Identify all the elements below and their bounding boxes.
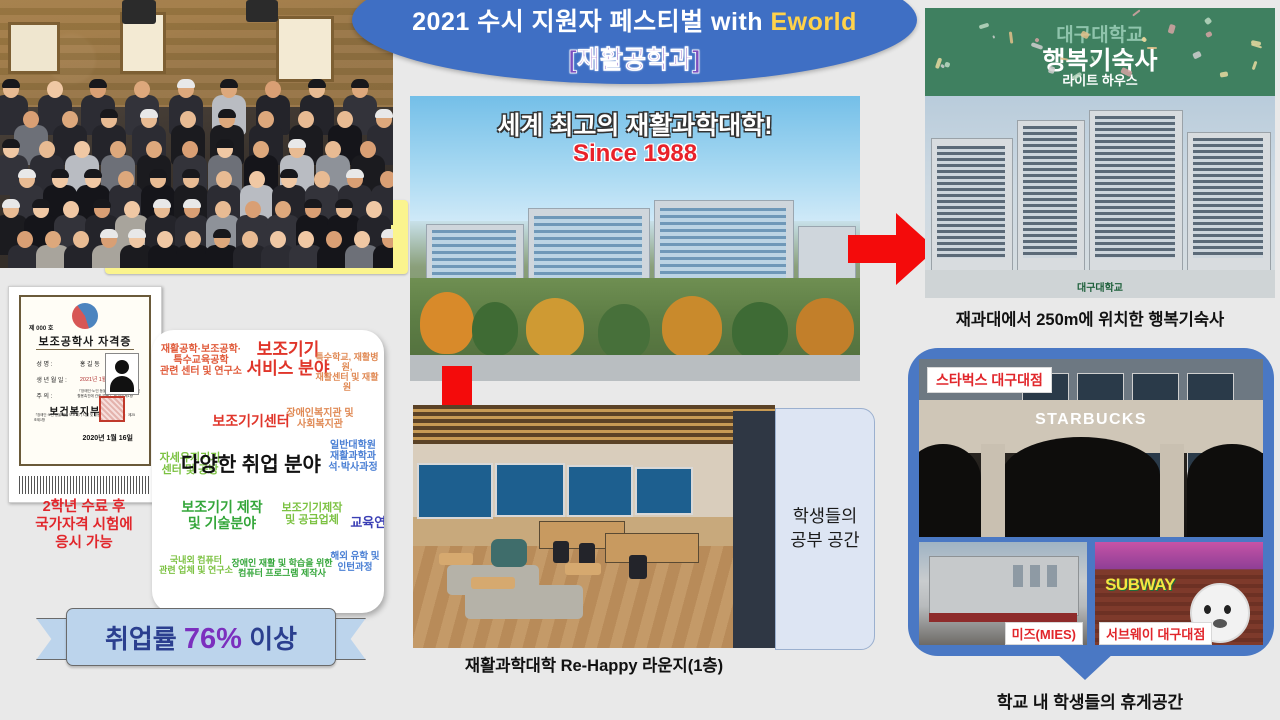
person-head bbox=[62, 111, 78, 128]
word-cloud-item: 재활공학·보조공학· 특수교육공학 관련 센터 및 연구소 bbox=[158, 344, 244, 378]
dorm-tower-1-windows bbox=[937, 146, 1005, 258]
cap-icon bbox=[304, 199, 322, 208]
cert-barcode bbox=[19, 476, 151, 494]
person-head bbox=[47, 81, 63, 98]
person-head bbox=[23, 111, 39, 128]
campus-subline: Since 1988 bbox=[410, 140, 860, 168]
lounge-side-table-1 bbox=[439, 553, 473, 565]
tree-autumn-3 bbox=[662, 296, 722, 358]
person-head bbox=[298, 231, 314, 248]
cap-icon bbox=[140, 109, 158, 118]
person-head bbox=[298, 111, 314, 128]
person-head bbox=[326, 231, 342, 248]
cert-name-value: 홍 길 동 bbox=[80, 359, 100, 368]
mies-photo: 미즈(MIES) bbox=[919, 542, 1087, 645]
person-head bbox=[118, 171, 134, 188]
employment-rate-ribbon: 취업률 76% 이상 bbox=[36, 608, 366, 666]
person-head bbox=[245, 201, 261, 218]
certificate-caption: 2학년 수료 후 국가자격 시험에 응시 가능 bbox=[0, 498, 168, 552]
lounge-ceiling bbox=[413, 405, 775, 444]
cap-icon bbox=[18, 169, 36, 178]
campus-photo: 세계 최고의 재활과학대학! Since 1988 bbox=[410, 96, 860, 381]
cap-icon bbox=[32, 199, 50, 208]
slide-canvas: /* crowd drawn by JS below */ “대구대 재활공학과… bbox=[0, 0, 1280, 720]
red-arrow-right-icon bbox=[848, 213, 936, 285]
official-seal-icon bbox=[99, 396, 125, 422]
person-head bbox=[39, 141, 55, 158]
subway-tag: 서브웨이 대구대점 bbox=[1099, 622, 1212, 645]
cert-doc-no: 제 000 호 bbox=[29, 323, 53, 332]
amenities-card-pointer bbox=[1055, 652, 1115, 680]
lounge-pillar bbox=[733, 411, 775, 648]
word-cloud-item: 일반대학원 재활과학과 석·박사과정 bbox=[320, 440, 384, 474]
title-line-2: [재활공학과] bbox=[569, 40, 701, 76]
certificate-caption-line-3: 응시 가능 bbox=[0, 534, 168, 552]
cap-icon bbox=[153, 199, 171, 208]
person-head bbox=[337, 111, 353, 128]
cap-icon bbox=[381, 229, 393, 238]
dormitory-logo: 대구대학교 bbox=[925, 279, 1275, 294]
mies-window-2 bbox=[1030, 565, 1040, 588]
cap-icon bbox=[218, 109, 236, 118]
employment-percent: 76% bbox=[184, 623, 242, 655]
word-cloud-item: 특수학교, 재활병원, 재활센터 및 재활원 bbox=[312, 352, 382, 392]
cap-icon bbox=[93, 199, 111, 208]
dorm-tower-3-windows bbox=[1095, 116, 1175, 258]
certificate-caption-line-2: 국가자격 시험에 bbox=[0, 516, 168, 534]
lounge-window-2 bbox=[495, 463, 565, 517]
person-head bbox=[366, 201, 382, 218]
cert-note-label: 주 의 : bbox=[36, 391, 52, 400]
person-head bbox=[124, 201, 140, 218]
cap-icon bbox=[149, 169, 167, 178]
study-space-line-1: 학생들의 bbox=[793, 505, 857, 529]
employment-rate-text: 취업률 76% 이상 bbox=[105, 619, 297, 656]
confetti-icon bbox=[1132, 10, 1140, 17]
starbucks-arch-3 bbox=[1187, 444, 1263, 537]
group-photo: /* crowd drawn by JS below */ bbox=[0, 0, 393, 268]
title-line-1: 2021 수시 지원자 페스티벌 with Eworld bbox=[412, 2, 857, 38]
dormitory-building-image: 대구대학교 bbox=[925, 96, 1275, 298]
government-emblem-icon bbox=[72, 303, 98, 329]
starbucks-arch-1 bbox=[919, 444, 981, 537]
lounge-chair-2 bbox=[579, 543, 595, 565]
dorm-tower-2-windows bbox=[1023, 126, 1077, 258]
person-head bbox=[182, 141, 198, 158]
word-cloud-item: 보조기기 제작 및 기술분야 bbox=[168, 500, 276, 531]
cap-icon bbox=[100, 109, 118, 118]
subway-signage: SUBWAY bbox=[1105, 575, 1175, 595]
employment-suffix: 이상 bbox=[242, 624, 297, 654]
cap-icon bbox=[375, 109, 393, 118]
slide-title-banner: 2021 수시 지원자 페스티벌 with Eworld [재활공학과] bbox=[352, 0, 917, 84]
person-head bbox=[354, 231, 370, 248]
person-head bbox=[253, 141, 269, 158]
person-head bbox=[242, 231, 258, 248]
word-cloud-item: 장애인 재활 및 학습을 위한 컴퓨터 프로그램 제작사 bbox=[230, 558, 334, 578]
lounge-window-3 bbox=[567, 465, 633, 517]
cap-icon bbox=[346, 169, 364, 178]
cap-icon bbox=[2, 199, 20, 208]
dorm-tower-4-windows bbox=[1193, 138, 1263, 258]
cert-name-label: 성 명 : bbox=[36, 359, 52, 368]
lounge-photo bbox=[413, 405, 775, 648]
cap-icon bbox=[100, 229, 118, 238]
starbucks-signage: STARBUCKS bbox=[919, 411, 1263, 429]
mies-awning bbox=[929, 613, 1077, 622]
starbucks-pier-2 bbox=[1160, 444, 1184, 537]
person-head bbox=[216, 171, 232, 188]
lounge-chair-1 bbox=[553, 541, 569, 563]
word-cloud-item: 장애인복지관 및 사회복지관 bbox=[280, 408, 360, 430]
cert-issuer: 보건복지부장관 bbox=[21, 403, 149, 418]
assistive-technology-certificate: 제 000 호 보조공학사 자격증 성 명 : 홍 길 동 생 년 월 일 : … bbox=[8, 286, 162, 503]
person-head bbox=[265, 81, 281, 98]
amenities-caption: 학교 내 학생들의 휴게공간 bbox=[900, 688, 1280, 713]
tree-green-3 bbox=[732, 302, 788, 360]
photo-window-right bbox=[276, 16, 334, 82]
campus-headline: 세계 최고의 재활과학대학! bbox=[410, 106, 860, 142]
cert-title: 보조공학사 자격증 bbox=[21, 333, 149, 349]
lounge-side-table-3 bbox=[565, 563, 601, 575]
word-cloud-item: 교육연구 분야 bbox=[340, 516, 384, 531]
crowd: /* crowd drawn by JS below */ bbox=[0, 75, 393, 268]
person-head bbox=[180, 111, 196, 128]
cap-icon bbox=[280, 169, 298, 178]
cert-issue-date: 2020년 1월 16일 bbox=[83, 433, 133, 443]
word-cloud-item: 국내외 컴퓨터 관련 업체 및 연구소 bbox=[156, 555, 236, 575]
cap-icon bbox=[308, 79, 326, 88]
cap-icon bbox=[89, 79, 107, 88]
confetti-icon bbox=[1147, 47, 1157, 49]
tree-green-1 bbox=[472, 302, 518, 356]
starbucks-photo: STARBUCKS 스타벅스 대구대점 bbox=[919, 359, 1263, 537]
mies-window-1 bbox=[1013, 565, 1023, 588]
cap-icon bbox=[288, 139, 306, 148]
cap-icon bbox=[351, 79, 369, 88]
cap-icon bbox=[335, 199, 353, 208]
person-head bbox=[215, 201, 231, 218]
lounge-window-1 bbox=[417, 463, 493, 519]
career-field-word-cloud: 재활공학·보조공학· 특수교육공학 관련 센터 및 연구소보조기기 서비스 분야… bbox=[152, 330, 384, 613]
subway-photo: SUBWAY 서브웨이 대구대점 bbox=[1095, 542, 1263, 645]
lounge-desk-2 bbox=[605, 533, 699, 563]
tree-autumn-4 bbox=[796, 298, 854, 358]
cert-date-label: 생 년 월 일 : bbox=[36, 375, 66, 384]
person-head bbox=[146, 141, 162, 158]
cert-portrait-photo bbox=[105, 353, 139, 395]
cap-icon bbox=[182, 169, 200, 178]
word-cloud-center-label: 다양한 취업 분야 bbox=[176, 454, 326, 476]
certificate-caption-line-1: 2학년 수료 후 bbox=[0, 498, 168, 516]
starbucks-pier-1 bbox=[981, 444, 1005, 537]
title-main-text: 2021 수시 지원자 페스티벌 with bbox=[412, 8, 770, 36]
tree-green-2 bbox=[598, 304, 650, 360]
employment-prefix: 취업률 bbox=[105, 624, 184, 654]
mies-window-3 bbox=[1047, 565, 1057, 588]
cap-icon bbox=[2, 79, 20, 88]
study-space-label-panel: 학생들의 공부 공간 bbox=[775, 408, 875, 650]
dormitory-photo: 대구대학교 행복기숙사 라이트 하우스 대구대학교 bbox=[925, 8, 1275, 298]
starbucks-arch-2 bbox=[1002, 437, 1160, 537]
mies-tag: 미즈(MIES) bbox=[1005, 622, 1083, 645]
speaker-left bbox=[122, 0, 156, 24]
cap-icon bbox=[216, 139, 234, 148]
lounge-side-table-2 bbox=[471, 577, 515, 589]
cap-icon bbox=[51, 169, 69, 178]
dormitory-banner: 대구대학교 행복기숙사 라이트 하우스 bbox=[925, 8, 1275, 96]
person-head bbox=[270, 231, 286, 248]
campus-amenities-card: STARBUCKS 스타벅스 대구대점 미즈(MIES) SUBWAY 서브웨이… bbox=[908, 348, 1274, 656]
ribbon-body: 취업률 76% 이상 bbox=[66, 608, 336, 666]
person-body bbox=[373, 245, 393, 268]
study-space-line-2: 공부 공간 bbox=[790, 529, 859, 553]
lounge-chair-3 bbox=[629, 555, 647, 579]
cap-icon bbox=[220, 79, 238, 88]
speaker-right bbox=[246, 0, 278, 22]
tree-autumn-1 bbox=[420, 292, 474, 354]
word-cloud-item: 해외 유학 및 인턴과정 bbox=[324, 552, 384, 573]
cap-icon bbox=[213, 229, 231, 238]
cap-icon bbox=[128, 229, 146, 238]
person-head bbox=[134, 81, 150, 98]
cap-icon bbox=[2, 139, 20, 148]
starbucks-tag: 스타벅스 대구대점 bbox=[927, 367, 1052, 393]
photo-frame bbox=[8, 22, 60, 74]
tree-autumn-2 bbox=[526, 298, 584, 358]
lounge-window-4 bbox=[635, 467, 693, 515]
cap-icon bbox=[183, 199, 201, 208]
cap-icon bbox=[84, 169, 102, 178]
person-head bbox=[17, 231, 33, 248]
dormitory-caption: 재과대에서 250m에 위치한 행복기숙사 bbox=[900, 306, 1280, 330]
person-head bbox=[275, 201, 291, 218]
lounge-caption: 재활과학대학 Re-Happy 라운지(1층) bbox=[398, 652, 790, 676]
person-head bbox=[380, 171, 393, 188]
lounge-cushion bbox=[491, 539, 527, 567]
person-head bbox=[325, 141, 341, 158]
title-brand-text: Eworld bbox=[771, 8, 857, 36]
lounge-sofa-2 bbox=[465, 585, 583, 619]
cap-icon bbox=[177, 79, 195, 88]
person-head bbox=[249, 171, 265, 188]
